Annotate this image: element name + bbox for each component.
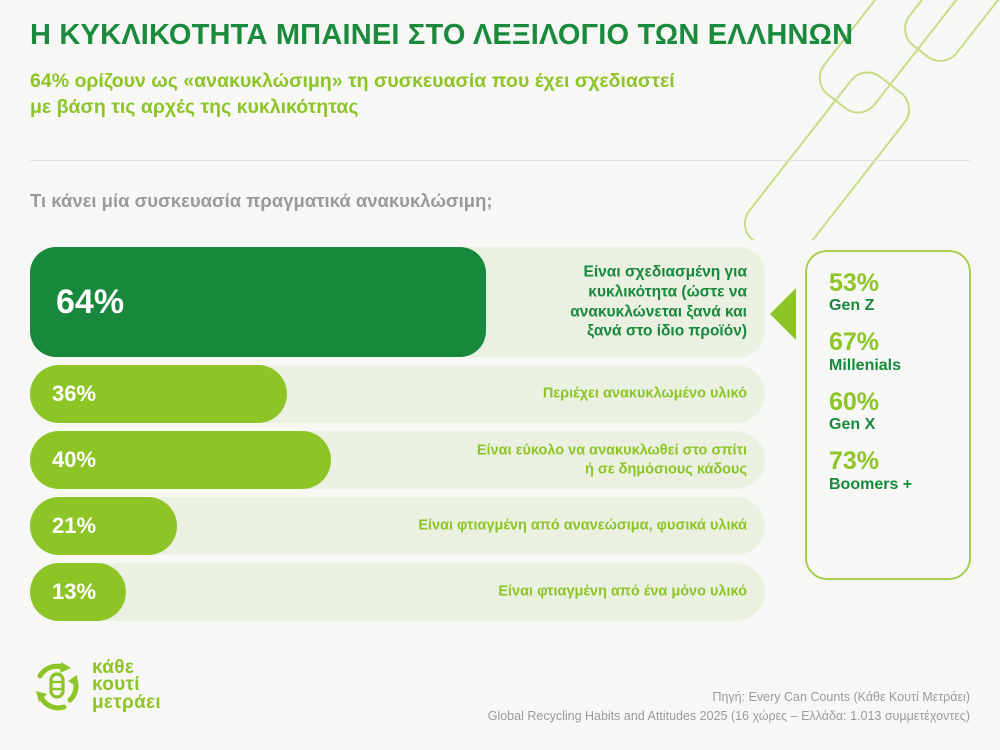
bar-label-line: κυκλικότητα (ώστε να [588, 283, 747, 300]
bar-fill: 40% [30, 431, 331, 489]
bar-value-label: 21% [30, 513, 96, 539]
bar-fill: 21% [30, 497, 177, 555]
infographic-page: Η ΚΥΚΛΙΚΟΤΗΤΑ ΜΠΑΙΝΕΙ ΣΤΟ ΛΕΞΙΛΟΓΙΟ ΤΩΝ … [0, 0, 1000, 750]
bar-label-line: Είναι φτιαγμένη από ένα μόνο υλικό [498, 584, 747, 600]
generation-value: 53% [829, 270, 969, 296]
generation-label: Millenials [829, 356, 969, 375]
bar-category-label: Είναι σχεδιασμένη για κυκλικότητα (ώστε … [532, 262, 747, 341]
bar-label-line: ή σε δημόσιους κάδους [585, 461, 747, 477]
bar-label-line: Περιέχει ανακυκλωμένο υλικό [543, 386, 747, 402]
bar-fill: 36% [30, 365, 287, 423]
table-row: 64% Είναι σχεδιασμένη για κυκλικότητα (ώ… [30, 247, 765, 357]
callout-pointer-icon [770, 288, 796, 340]
bar-category-label: Είναι φτιαγμένη από ένα μόνο υλικό [317, 583, 747, 602]
bar-chart: 64% Είναι σχεδιασμένη για κυκλικότητα (ώ… [30, 247, 765, 629]
brand-logo-text: κάθε κουτί μετράει [92, 659, 161, 711]
bar-category-label: Περιέχει ανακυκλωμένο υλικό [317, 385, 747, 404]
bar-track: 13% Είναι φτιαγμένη από ένα μόνο υλικό [30, 563, 765, 621]
recycling-can-logo-icon [30, 658, 84, 712]
generation-label: Gen X [829, 415, 969, 434]
list-item: 53% Gen Z [829, 270, 969, 315]
list-item: 73% Boomers + [829, 448, 969, 493]
header: Η ΚΥΚΛΙΚΟΤΗΤΑ ΜΠΑΙΝΕΙ ΣΤΟ ΛΕΞΙΛΟΓΙΟ ΤΩΝ … [30, 20, 930, 121]
source-line-2: Global Recycling Habits and Attitudes 20… [488, 707, 970, 726]
generation-value: 60% [829, 389, 969, 415]
bar-track: 64% Είναι σχεδιασμένη για κυκλικότητα (ώ… [30, 247, 765, 357]
list-item: 67% Millenials [829, 329, 969, 374]
subtitle-line-1: 64% ορίζουν ως «ανακυκλώσιμη» τη συσκευα… [30, 70, 675, 92]
table-row: 13% Είναι φτιαγμένη από ένα μόνο υλικό [30, 563, 765, 621]
logo-line-3: μετράει [92, 694, 161, 711]
brand-logo: κάθε κουτί μετράει [30, 658, 161, 712]
bar-track: 36% Περιέχει ανακυκλωμένο υλικό [30, 365, 765, 423]
bar-label-line: Είναι εύκολο να ανακυκλωθεί στο σπίτι [477, 442, 747, 458]
list-item: 60% Gen X [829, 389, 969, 434]
table-row: 21% Είναι φτιαγμένη από ανανεώσιμα, φυσι… [30, 497, 765, 555]
generations-panel: 53% Gen Z 67% Millenials 60% Gen X 73% B… [805, 250, 971, 580]
bar-value-label: 13% [30, 579, 96, 605]
table-row: 40% Είναι εύκολο να ανακυκλωθεί στο σπίτ… [30, 431, 765, 489]
page-subtitle: 64% ορίζουν ως «ανακυκλώσιμη» τη συσκευα… [30, 68, 850, 121]
table-row: 36% Περιέχει ανακυκλωμένο υλικό [30, 365, 765, 423]
bar-label-line: ξανά στο ίδιο προϊόν) [587, 323, 747, 340]
bar-category-label: Είναι φτιαγμένη από ανανεώσιμα, φυσικά υ… [317, 517, 747, 536]
source-note: Πηγή: Every Can Counts (Κάθε Κουτί Μετρά… [488, 688, 970, 726]
bar-value-label: 40% [30, 447, 96, 473]
page-title: Η ΚΥΚΛΙΚΟΤΗΤΑ ΜΠΑΙΝΕΙ ΣΤΟ ΛΕΞΙΛΟΓΙΟ ΤΩΝ … [30, 20, 930, 52]
bar-track: 21% Είναι φτιαγμένη από ανανεώσιμα, φυσι… [30, 497, 765, 555]
subtitle-line-2: με βάση τις αρχές της κυκλικότητας [30, 96, 359, 118]
bar-track: 40% Είναι εύκολο να ανακυκλωθεί στο σπίτ… [30, 431, 765, 489]
generation-value: 73% [829, 448, 969, 474]
generation-label: Gen Z [829, 296, 969, 315]
bar-category-label: Είναι εύκολο να ανακυκλωθεί στο σπίτι ή … [317, 441, 747, 478]
bar-fill: 13% [30, 563, 126, 621]
bar-label-line: Είναι σχεδιασμένη για [584, 263, 747, 280]
generation-label: Boomers + [829, 475, 969, 494]
bar-value-label: 64% [30, 283, 124, 322]
bar-label-line: ανακυκλώνεται ξανά και [570, 303, 747, 320]
chart-question-heading: Τι κάνει μία συσκευασία πραγματικά ανακυ… [30, 190, 493, 212]
bar-fill: 64% [30, 247, 486, 357]
generation-value: 67% [829, 329, 969, 355]
source-line-1: Πηγή: Every Can Counts (Κάθε Κουτί Μετρά… [488, 688, 970, 707]
header-divider [30, 160, 970, 161]
bar-value-label: 36% [30, 381, 96, 407]
bar-label-line: Είναι φτιαγμένη από ανανεώσιμα, φυσικά υ… [418, 518, 747, 534]
